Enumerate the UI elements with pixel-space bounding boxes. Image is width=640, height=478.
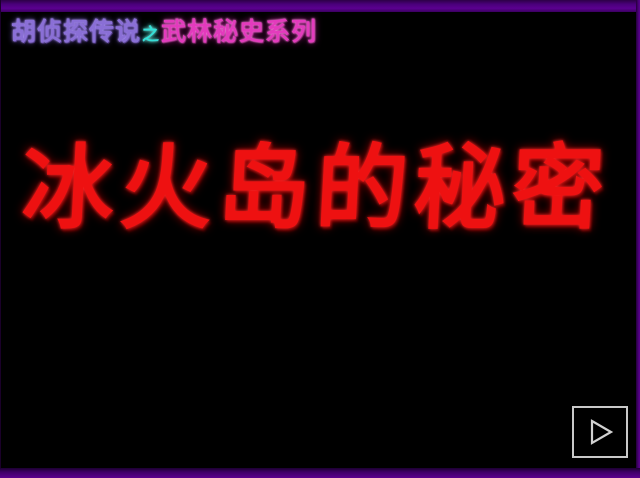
top-frame-bar (0, 0, 640, 12)
series-connector-text: 之 (141, 25, 161, 45)
series-prefix-text: 胡侦探传说 (11, 17, 141, 46)
right-frame-bar (636, 0, 640, 478)
video-title-screen: 胡侦探传说之武林秘史系列 冰火岛的秘密 (0, 0, 640, 478)
main-title: 冰火岛的秘密 (0, 143, 634, 235)
play-button[interactable] (572, 406, 628, 458)
series-heading: 胡侦探传说之武林秘史系列 (11, 19, 317, 44)
series-suffix-text: 武林秘史系列 (161, 17, 317, 46)
play-triangle-icon (585, 417, 615, 447)
left-frame-bar (0, 0, 1, 478)
bottom-frame-bar (0, 468, 640, 478)
